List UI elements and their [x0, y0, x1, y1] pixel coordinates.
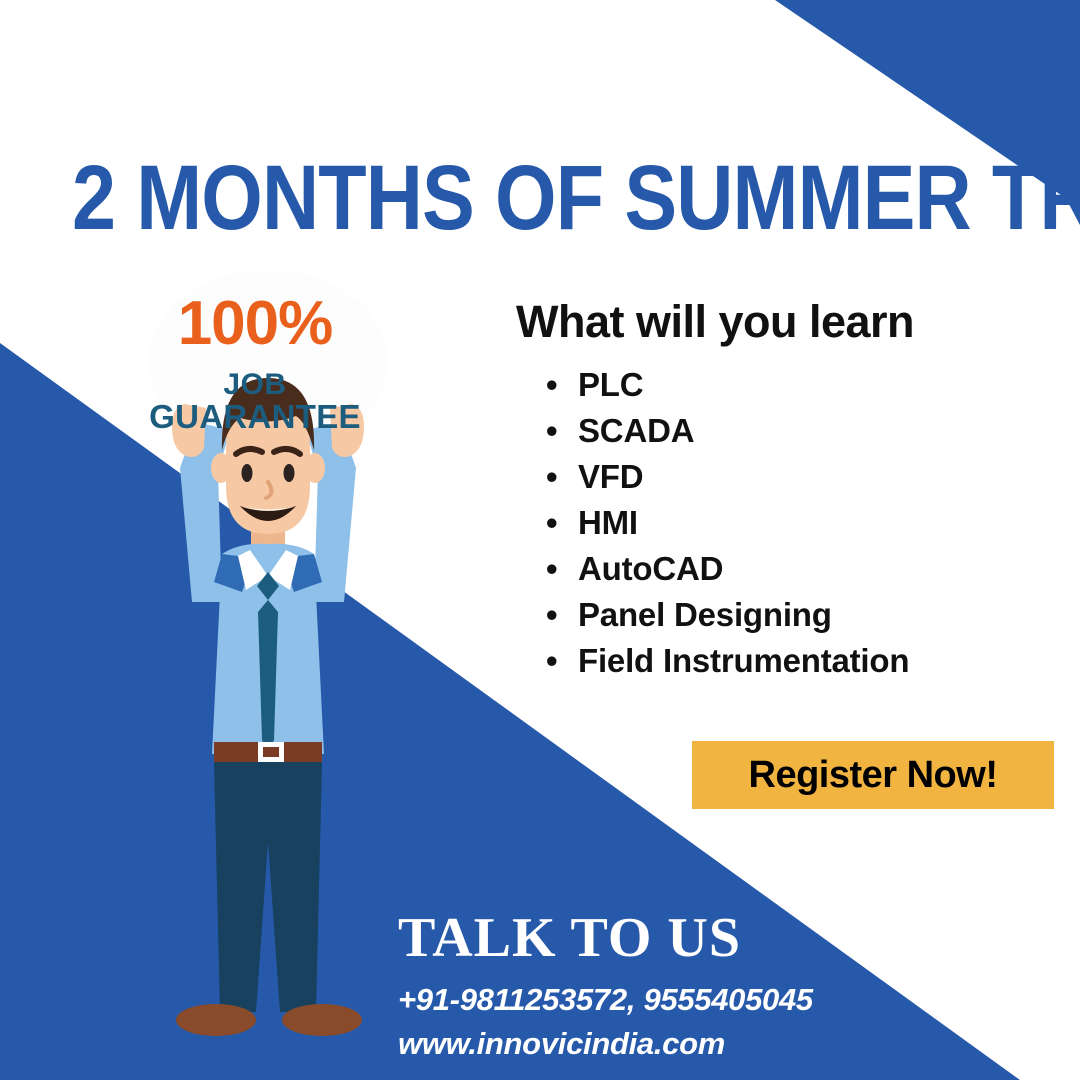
badge-percent-text: 100% [160, 288, 350, 359]
list-item-label: Panel Designing [578, 596, 832, 633]
learn-topics-list: • PLC • SCADA • VFD • HMI • AutoCAD • Pa… [540, 362, 909, 684]
page-title: 2 MONTHS OF SUMMER TRAINING [72, 152, 889, 244]
list-item-label: SCADA [578, 412, 694, 449]
bullet-icon: • [546, 638, 557, 684]
list-item: • AutoCAD [578, 546, 909, 592]
badge-guarantee-text: GUARANTEE [140, 398, 370, 436]
bullet-icon: • [546, 592, 557, 638]
learn-heading: What will you learn [516, 296, 914, 348]
right-eye [284, 464, 295, 482]
bullet-icon: • [546, 362, 557, 408]
left-shoe [176, 1004, 256, 1036]
trousers [214, 762, 322, 1012]
bullet-icon: • [546, 546, 557, 592]
belt-buckle-inner [263, 747, 279, 757]
register-now-button[interactable]: Register Now! [692, 741, 1054, 809]
badge-job-text: JOB [160, 368, 350, 402]
list-item-label: PLC [578, 366, 643, 403]
list-item: • Panel Designing [578, 592, 909, 638]
list-item: • PLC [578, 362, 909, 408]
bullet-icon: • [546, 500, 557, 546]
list-item: • SCADA [578, 408, 909, 454]
bullet-icon: • [546, 454, 557, 500]
register-now-label: Register Now! [749, 754, 998, 797]
list-item-label: VFD [578, 458, 643, 495]
list-item: • VFD [578, 454, 909, 500]
poster-canvas: 2 MONTHS OF SUMMER TRAINING [0, 0, 1080, 1080]
list-item: • HMI [578, 500, 909, 546]
list-item-label: Field Instrumentation [578, 642, 909, 679]
bullet-icon: • [546, 408, 557, 454]
list-item-label: HMI [578, 504, 638, 541]
website-url[interactable]: www.innovicindia.com [398, 1026, 725, 1062]
list-item-label: AutoCAD [578, 550, 723, 587]
phone-numbers[interactable]: +91-9811253572, 9555405045 [398, 982, 813, 1018]
talk-to-us-heading: TALK TO US [398, 906, 741, 970]
left-eye [242, 464, 253, 482]
right-shoe [282, 1004, 362, 1036]
list-item: • Field Instrumentation [578, 638, 909, 684]
